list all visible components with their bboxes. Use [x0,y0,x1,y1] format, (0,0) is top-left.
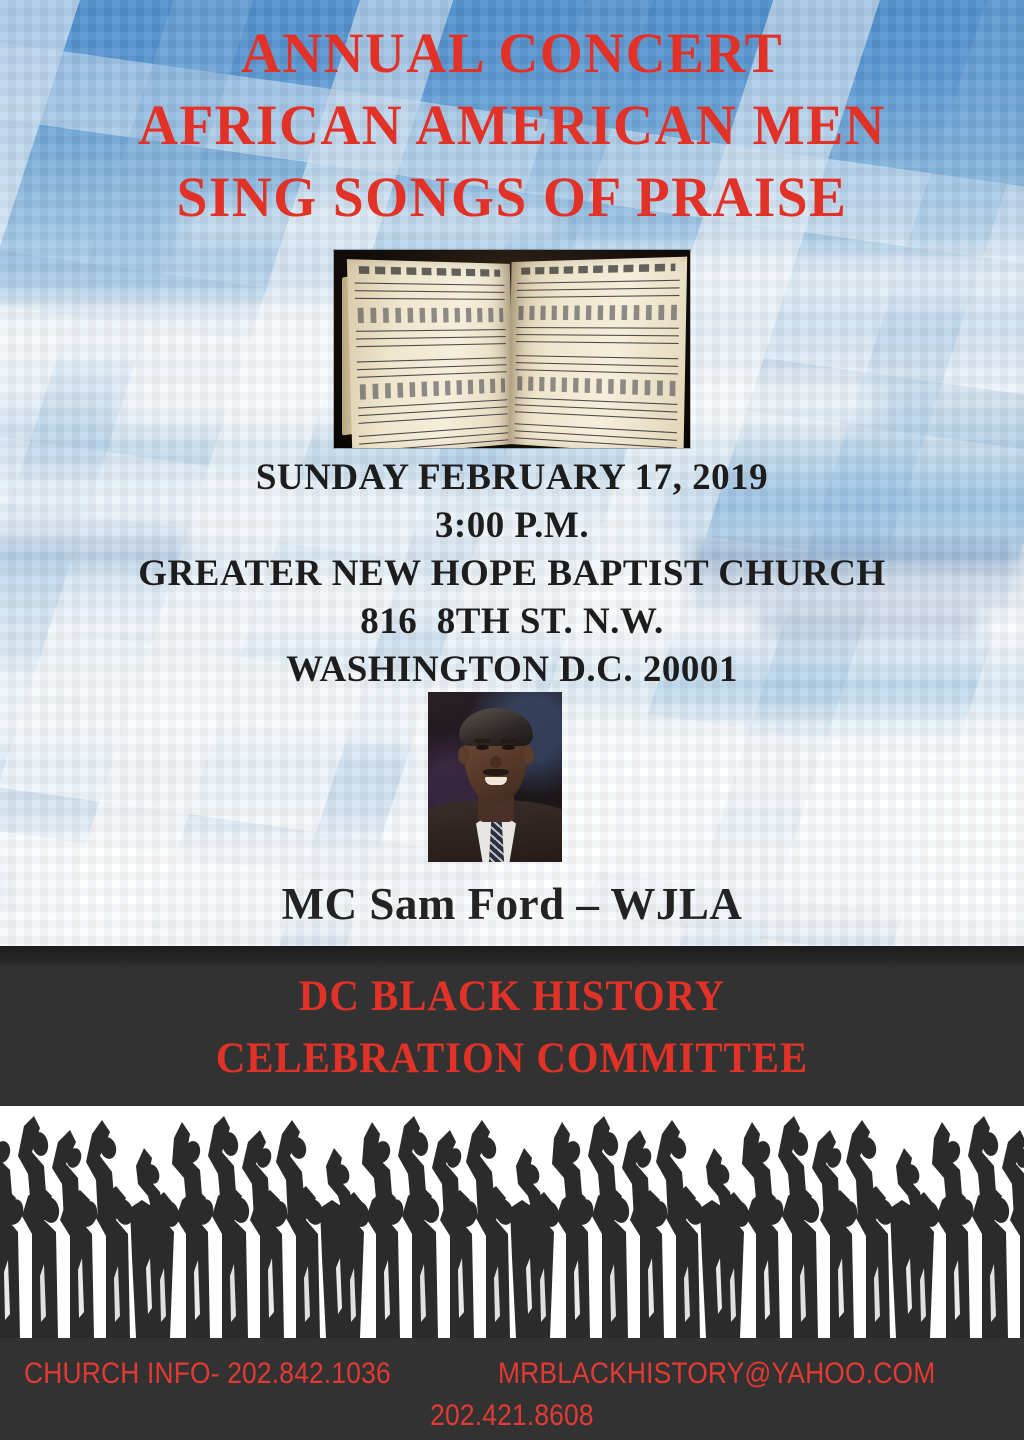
event-venue: GREATER NEW HOPE BAPTIST CHURCH [0,550,1024,598]
banner-line-2: CELEBRATION COMMITTEE [26,1028,999,1090]
music-staff [356,326,506,352]
portrait-eyebrow-right [501,739,517,743]
portrait-eye-left [476,745,489,750]
music-staff [516,352,679,379]
hymn-lyrics [517,376,675,396]
crowd-cluster [510,1116,706,1338]
email-address-text[interactable]: MRBLACKHISTORY@YAHOO.COM [498,1354,935,1394]
organizer-banner: DC BLACK HISTORY CELEBRATION COMMITTEE [0,946,1024,1106]
hymn-lyrics [518,305,677,320]
music-staff [517,276,680,301]
crowd-silhouette-image [0,1106,1024,1344]
flyer-poster: ANNUAL CONCERT AFRICAN AMERICAN MEN SING… [0,0,1024,1440]
banner-text-group: DC BLACK HISTORY CELEBRATION COMMITTEE [0,966,1024,1090]
hymn-title-text [359,266,500,277]
portrait-eye-right [502,745,515,750]
poster-title: ANNUAL CONCERT AFRICAN AMERICAN MEN SING… [0,18,1024,234]
music-staff [516,324,679,348]
portrait-ear-right [523,746,534,764]
hymn-title-text [521,263,675,274]
portrait-eyebrow-left [474,739,490,743]
crowd-cluster [0,1116,136,1338]
music-staff [357,354,507,382]
banner-top-strip [0,946,1024,968]
committee-phone-text[interactable]: 202.421.8608 [430,1396,594,1436]
contact-footer: CHURCH INFO- 202.842.1036 MRBLACKHISTORY… [0,1344,1024,1440]
crowd-cluster [890,1116,1024,1338]
banner-line-1: DC BLACK HISTORY [26,966,999,1028]
hymnal-page-left [347,259,514,448]
portrait-smile [485,777,507,785]
hymn-lyrics [358,308,504,323]
title-line-2: AFRICAN AMERICAN MEN [15,90,1008,162]
mc-portrait-photo [428,692,562,862]
music-staff [354,279,504,304]
event-details: SUNDAY FEBRUARY 17, 2019 3:00 P.M. GREAT… [0,454,1024,694]
music-staff [515,394,678,424]
mc-credit-line: MC Sam Ford – WJLA [0,876,1024,932]
portrait-nose [490,756,502,768]
title-line-1: ANNUAL CONCERT [15,18,1008,90]
crowd-cluster [700,1116,896,1338]
music-staff [514,420,677,448]
event-date: SUNDAY FEBRUARY 17, 2019 [0,454,1024,502]
crowd-cluster [320,1116,516,1338]
event-time: 3:00 P.M. [0,502,1024,550]
crowd-cluster [130,1116,326,1338]
hymnal-book-image [334,250,690,448]
footer-phone-row: 202.421.8608 [0,1396,1024,1436]
hymnal-page-right [508,257,687,448]
title-line-3: SING SONGS OF PRAISE [15,162,1008,234]
event-street-address: 816 8TH ST. N.W. [0,598,1024,646]
church-info-text[interactable]: CHURCH INFO- 202.842.1036 [24,1354,391,1394]
portrait-mustache [483,769,509,776]
portrait-ear-left [458,746,469,764]
event-city-state-zip: WASHINGTON D.C. 20001 [0,646,1024,694]
footer-contact-row: CHURCH INFO- 202.842.1036 MRBLACKHISTORY… [0,1354,1024,1396]
crowd-silhouette-svg [0,1106,1024,1344]
